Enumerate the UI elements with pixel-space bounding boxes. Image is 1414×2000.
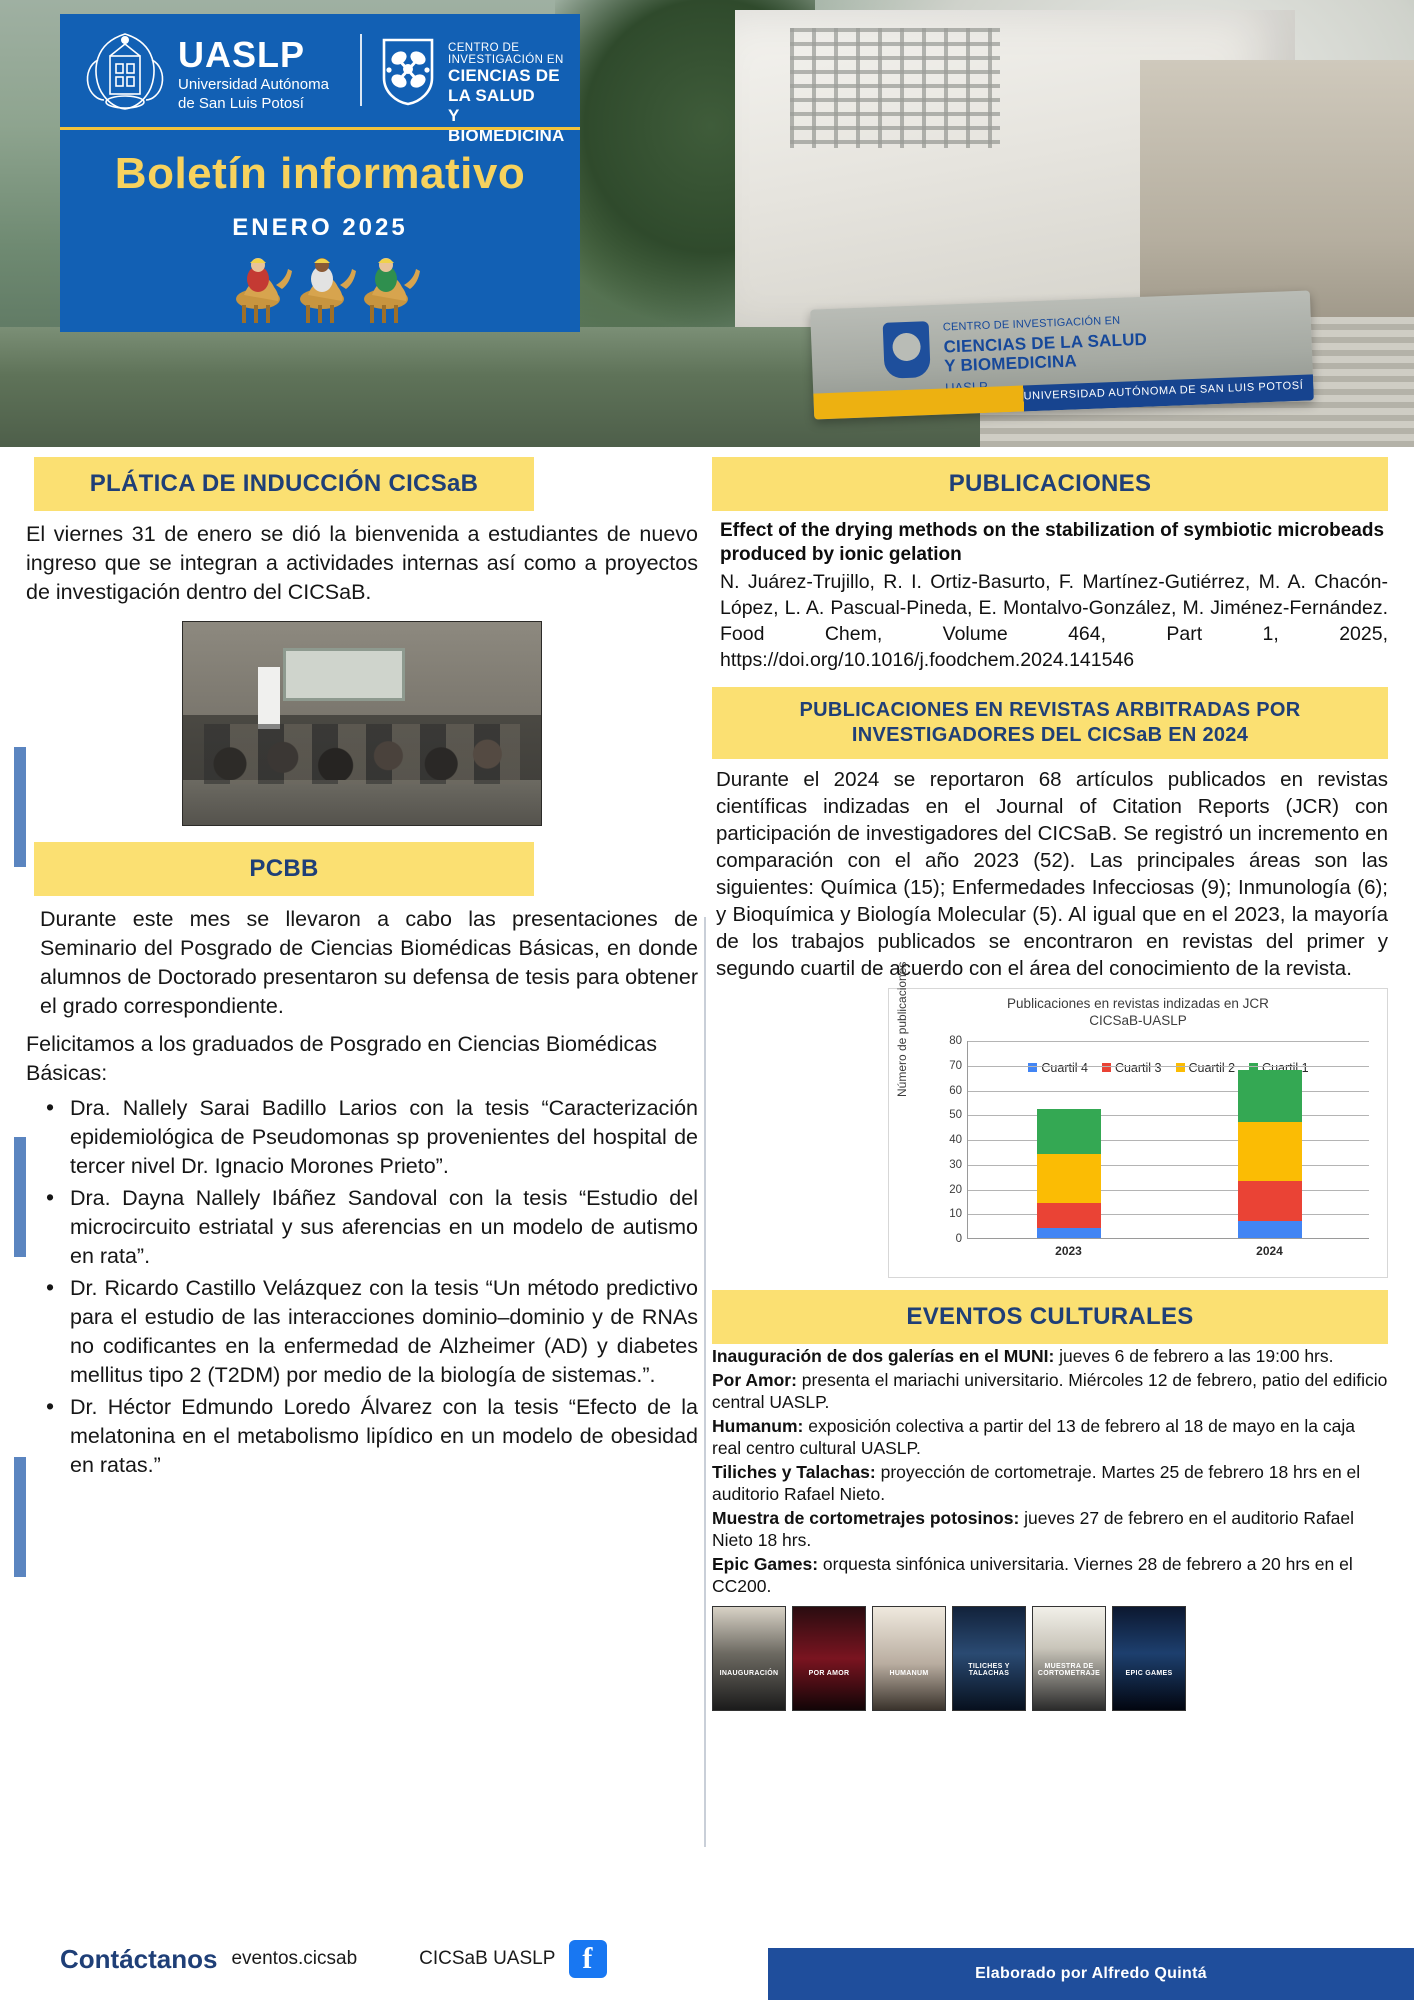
chart-gridline: 50 — [968, 1115, 1369, 1116]
issue-date: ENERO 2025 — [60, 214, 580, 242]
event-item: Por Amor: presenta el mariachi universit… — [712, 1369, 1388, 1414]
chart-bar-segment — [1238, 1181, 1302, 1221]
campus-sign-bar-text: UNIVERSIDAD AUTÓNOMA DE SAN LUIS POTOSÍ — [1023, 380, 1303, 403]
uaslp-crest-icon — [82, 30, 168, 112]
publication-citation: N. Juárez-Trujillo, R. I. Ortiz-Basurto,… — [712, 569, 1388, 673]
chart-y-tick: 0 — [956, 1233, 962, 1245]
chart-y-tick: 20 — [949, 1184, 962, 1196]
chart-legend-item: Cuartil 3 — [1102, 1061, 1162, 1075]
campus-sign-logo-icon — [883, 321, 931, 379]
accent-rail-3 — [14, 1457, 26, 1577]
chart-bar-segment — [1238, 1221, 1302, 1238]
poster-label: EPIC GAMES — [1113, 1670, 1185, 1677]
publication-title: Effect of the drying methods on the stab… — [712, 519, 1388, 567]
facebook-icon[interactable] — [569, 1940, 607, 1978]
cicsab-shield-icon — [380, 36, 436, 106]
footer-credit-bar: Elaborado por Alfredo Quintá — [768, 1948, 1414, 2000]
events-list: Inauguración de dos galerías en el MUNI:… — [712, 1345, 1388, 1598]
event-item: Humanum: exposición colectiva a partir d… — [712, 1415, 1388, 1460]
chart-gridline: 60 — [968, 1091, 1369, 1092]
left-column: PLÁTICA DE INDUCCIÓN CICSaB El viernes 3… — [26, 457, 698, 1483]
list-item: Dr. Héctor Edmundo Loredo Álvarez con la… — [32, 1393, 698, 1480]
chart-bar-segment — [1238, 1070, 1302, 1122]
event-name: Inauguración de dos galerías en el MUNI: — [712, 1346, 1054, 1366]
chart-y-tick: 80 — [949, 1035, 962, 1047]
chart-gridline: 10 — [968, 1214, 1369, 1215]
poster-label: MUESTRA DE CORTOMETRAJE — [1033, 1663, 1105, 1677]
induccion-photo — [182, 621, 542, 826]
pcbb-text-1: Durante este mes se llevaron a cabo las … — [26, 905, 698, 1021]
event-name: Por Amor: — [712, 1370, 797, 1390]
newsletter-page: CENTRO DE INVESTIGACIÓN EN CIENCIAS DE L… — [0, 0, 1414, 2000]
chart-y-tick: 60 — [949, 1085, 962, 1097]
event-name: Muestra de cortometrajes potosinos: — [712, 1508, 1019, 1528]
chart-bar-segment — [1037, 1109, 1101, 1154]
contact-email[interactable]: eventos.cicsab — [231, 1948, 357, 1970]
revistas-heading-line1: PUBLICACIONES EN REVISTAS ARBITRADAS POR — [718, 698, 1382, 723]
revistas-text: Durante el 2024 se reportaron 68 artícul… — [712, 766, 1388, 982]
chart-legend-swatch — [1028, 1063, 1037, 1072]
chart-y-tick: 70 — [949, 1060, 962, 1072]
induccion-text: El viernes 31 de enero se dió la bienven… — [26, 520, 698, 607]
publications-chart: Publicaciones en revistas indizadas en J… — [888, 988, 1388, 1278]
event-item: Tiliches y Talachas: proyección de corto… — [712, 1461, 1388, 1506]
center-line3: Y BIOMEDICINA — [448, 106, 580, 146]
chart-legend-swatch — [1176, 1063, 1185, 1072]
event-item: Muestra de cortometrajes potosinos: juev… — [712, 1507, 1388, 1552]
chart-x-tick: 2023 — [1037, 1244, 1101, 1258]
chart-bar-segment — [1238, 1122, 1302, 1181]
event-description: exposición colectiva a partir del 13 de … — [712, 1416, 1355, 1459]
poster-humanum: HUMANUM — [872, 1606, 946, 1711]
chart-y-tick: 40 — [949, 1134, 962, 1146]
hero-banner: CENTRO DE INVESTIGACIÓN EN CIENCIAS DE L… — [0, 0, 1414, 447]
accent-rail-1 — [14, 747, 26, 867]
chart-y-axis-label: Número de publicaciones — [895, 962, 909, 1097]
center-line1: CENTRO DE INVESTIGACIÓN EN — [448, 42, 580, 66]
poster-por-amor: POR AMOR — [792, 1606, 866, 1711]
graduates-list: Dra. Nallely Sarai Badillo Larios con la… — [26, 1094, 698, 1480]
chart-bar-segment — [1037, 1228, 1101, 1238]
chart-legend-swatch — [1102, 1063, 1111, 1072]
list-item: Dra. Nallely Sarai Badillo Larios con la… — [32, 1094, 698, 1181]
uaslp-wordmark: UASLP Universidad Autónoma de San Luis P… — [178, 36, 329, 112]
section-header-pcbb: PCBB — [34, 842, 534, 896]
instagram-handle[interactable]: CICSaB UASLP — [419, 1948, 555, 1970]
uaslp-line1: Universidad Autónoma — [178, 76, 329, 93]
instagram-icon[interactable] — [371, 1942, 405, 1976]
content-area: PLÁTICA DE INDUCCIÓN CICSaB El viernes 3… — [0, 447, 1414, 2000]
logo-divider — [360, 34, 362, 106]
chart-title-main: Publicaciones en revistas indizadas en J… — [889, 995, 1387, 1012]
chart-gridline: 80 — [968, 1041, 1369, 1042]
campus-sign-title: CENTRO DE INVESTIGACIÓN EN CIENCIAS DE L… — [943, 311, 1149, 376]
masthead-panel: UASLP Universidad Autónoma de San Luis P… — [60, 14, 580, 332]
chart-legend-item: Cuartil 2 — [1176, 1061, 1236, 1075]
chart-y-tick: 30 — [949, 1159, 962, 1171]
footer-credit-text: Elaborado por Alfredo Quintá — [975, 1965, 1207, 1983]
photo-audience — [197, 699, 526, 780]
section-header-induccion: PLÁTICA DE INDUCCIÓN CICSaB — [34, 457, 534, 511]
contact-label: Contáctanos — [60, 1944, 217, 1975]
chart-bar-segment — [1037, 1154, 1101, 1204]
event-posters: INAUGURACIÓN POR AMOR HUMANUM TILICHES Y… — [712, 1606, 1388, 1711]
list-item: Dr. Ricardo Castillo Velázquez con la te… — [32, 1274, 698, 1390]
chart-bar: 2024 — [1238, 1070, 1302, 1238]
poster-inauguracion: INAUGURACIÓN — [712, 1606, 786, 1711]
poster-label: TILICHES Y TALACHAS — [953, 1663, 1025, 1677]
event-name: Tiliches y Talachas: — [712, 1462, 876, 1482]
masthead-rule — [60, 127, 580, 130]
accent-rail-2 — [14, 1137, 26, 1257]
three-kings-camels-icon — [230, 249, 430, 324]
column-divider — [704, 917, 706, 1847]
center-wordmark: CENTRO DE INVESTIGACIÓN EN CIENCIAS DE L… — [448, 42, 580, 146]
chart-title: Publicaciones en revistas indizadas en J… — [889, 995, 1387, 1029]
center-line2: CIENCIAS DE LA SALUD — [448, 66, 580, 106]
event-item: Inauguración de dos galerías en el MUNI:… — [712, 1345, 1388, 1368]
pcbb-text-2: Felicitamos a los graduados de Posgrado … — [26, 1030, 698, 1088]
section-header-publicaciones: PUBLICACIONES — [712, 457, 1388, 511]
section-header-eventos: EVENTOS CULTURALES — [712, 1290, 1388, 1344]
campus-sign: CENTRO DE INVESTIGACIÓN EN CIENCIAS DE L… — [810, 290, 1314, 419]
chart-bar: 2023 — [1037, 1109, 1101, 1238]
chart-x-tick: 2024 — [1238, 1244, 1302, 1258]
chart-bar-segment — [1037, 1203, 1101, 1228]
chart-y-tick: 10 — [949, 1208, 962, 1220]
revistas-heading-line2: INVESTIGADORES DEL CICSaB EN 2024 — [718, 723, 1382, 748]
chart-gridline: 40 — [968, 1140, 1369, 1141]
list-item: Dra. Dayna Nallely Ibáñez Sandoval con l… — [32, 1184, 698, 1271]
poster-epic-games: EPIC GAMES — [1112, 1606, 1186, 1711]
event-name: Epic Games: — [712, 1554, 818, 1574]
chart-plot-area: Cuartil 4Cuartil 3Cuartil 2Cuartil 1 010… — [967, 1041, 1369, 1239]
event-item: Epic Games: orquesta sinfónica universit… — [712, 1553, 1388, 1598]
poster-tiliches: TILICHES Y TALACHAS — [952, 1606, 1026, 1711]
poster-label: POR AMOR — [793, 1670, 865, 1677]
chart-gridline: 0 — [968, 1239, 1369, 1240]
poster-label: INAUGURACIÓN — [713, 1670, 785, 1677]
bulletin-title: Boletín informativo — [60, 149, 580, 199]
contact-block: Contáctanos eventos.cicsab CICSaB UASLP — [60, 1940, 607, 1978]
section-header-revistas: PUBLICACIONES EN REVISTAS ARBITRADAS POR… — [712, 687, 1388, 759]
right-column: PUBLICACIONES Effect of the drying metho… — [712, 457, 1388, 1711]
uaslp-abbr: UASLP — [178, 36, 329, 74]
chart-gridline: 70 — [968, 1066, 1369, 1067]
event-description: jueves 6 de febrero a las 19:00 hrs. — [1054, 1346, 1333, 1366]
chart-gridline: 20 — [968, 1190, 1369, 1191]
photo-floor — [183, 780, 541, 825]
poster-cortometraje: MUESTRA DE CORTOMETRAJE — [1032, 1606, 1106, 1711]
chart-gridline: 30 — [968, 1165, 1369, 1166]
event-name: Humanum: — [712, 1416, 803, 1436]
photo-projection-screen — [283, 648, 405, 701]
uaslp-line2: de San Luis Potosí — [178, 95, 329, 112]
poster-label: HUMANUM — [873, 1670, 945, 1677]
chart-subtitle: CICSaB-UASLP — [889, 1012, 1387, 1029]
chart-legend-item: Cuartil 4 — [1028, 1061, 1088, 1075]
chart-y-tick: 50 — [949, 1109, 962, 1121]
chart-legend: Cuartil 4Cuartil 3Cuartil 2Cuartil 1 — [968, 1061, 1369, 1075]
event-description: presenta el mariachi universitario. Miér… — [712, 1370, 1387, 1413]
